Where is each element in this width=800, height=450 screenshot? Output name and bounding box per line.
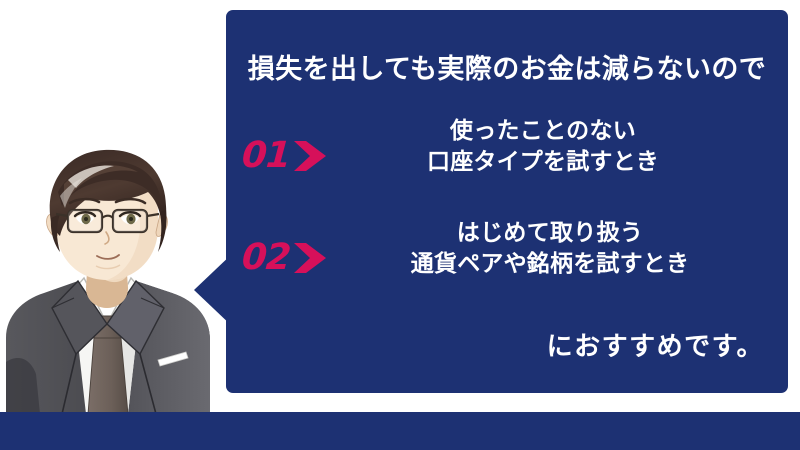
item-number: 01 bbox=[241, 138, 292, 174]
bubble-headline: 損失を出しても実際のお金は減らないので bbox=[226, 54, 788, 86]
item-number: 02 bbox=[241, 240, 292, 276]
businessman-avatar-icon bbox=[0, 148, 215, 414]
speech-bubble: 損失を出しても実際のお金は減らないので 01 使ったことのない 口座タイプを試す… bbox=[226, 10, 788, 393]
item-line-1: 使ったことのない bbox=[312, 116, 774, 147]
list-item: 02 はじめて取り扱う 通貨ペアや銘柄を試すとき bbox=[226, 218, 788, 300]
item-line-2: 通貨ペアや銘柄を試すとき bbox=[312, 249, 788, 280]
item-line-2: 口座タイプを試すとき bbox=[312, 147, 774, 178]
item-line-1: はじめて取り扱う bbox=[312, 218, 788, 249]
bottom-navy-band bbox=[0, 412, 800, 450]
list-item: 01 使ったことのない 口座タイプを試すとき bbox=[226, 116, 788, 198]
bubble-closing-text: におすすめです。 bbox=[226, 326, 788, 363]
item-text-01: 使ったことのない 口座タイプを試すとき bbox=[312, 116, 788, 178]
item-text-02: はじめて取り扱う 通貨ペアや銘柄を試すとき bbox=[312, 218, 788, 280]
slide-canvas: 損失を出しても実際のお金は減らないので 01 使ったことのない 口座タイプを試す… bbox=[0, 0, 800, 450]
speech-bubble-tail-left-icon bbox=[194, 252, 234, 328]
